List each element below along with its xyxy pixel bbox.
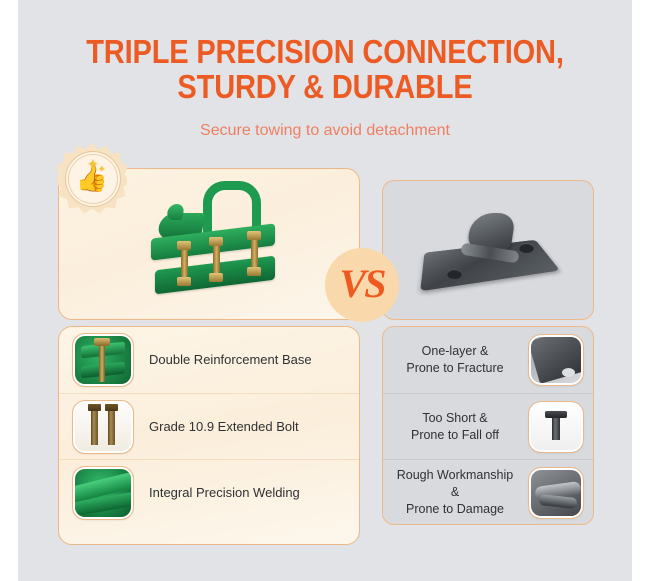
- hero-panel-bad: [382, 180, 594, 320]
- drawback-label: One-layer & Prone to Fracture: [391, 343, 529, 377]
- title-line-1: TRIPLE PRECISION CONNECTION,: [39, 36, 611, 67]
- feature-label: Double Reinforcement Base: [133, 351, 349, 369]
- feature-list-good: Double Reinforcement Base Grade 10.9 Ext…: [58, 326, 360, 545]
- drawback-line-1: Too Short &: [391, 410, 519, 427]
- feature-list-bad: One-layer & Prone to Fracture Too Short …: [382, 326, 594, 525]
- green-welding-thumb: [73, 467, 133, 519]
- drawback-label: Rough Workmanship & Prone to Damage: [391, 467, 529, 518]
- infographic-root: TRIPLE PRECISION CONNECTION, STURDY & DU…: [0, 0, 650, 581]
- sparkle-icon: ✦: [87, 157, 99, 171]
- green-tow-hook-image: [151, 181, 281, 309]
- list-item: Rough Workmanship & Prone to Damage: [383, 459, 593, 525]
- page-title: TRIPLE PRECISION CONNECTION, STURDY & DU…: [0, 36, 650, 102]
- grey-tow-hook-image: [425, 207, 557, 299]
- feature-label: Integral Precision Welding: [133, 484, 349, 502]
- drawback-line-2: Prone to Fracture: [391, 360, 519, 377]
- drawback-line-2: Prone to Damage: [391, 501, 519, 518]
- list-item: Double Reinforcement Base: [59, 327, 359, 393]
- rough-weld-thumb: [529, 468, 583, 518]
- versus-label: VS: [340, 264, 385, 304]
- green-double-base-thumb: [73, 334, 133, 386]
- drawback-label: Too Short & Prone to Fall off: [391, 410, 529, 444]
- thumbs-up-badge: 👍 ✦ ✦: [57, 143, 127, 213]
- drawback-line-1: One-layer &: [391, 343, 519, 360]
- list-item: Too Short & Prone to Fall off: [383, 393, 593, 459]
- grey-flat-plate-thumb: [529, 335, 583, 385]
- list-item: One-layer & Prone to Fracture: [383, 327, 593, 393]
- sparkle-icon-small: ✦: [98, 165, 106, 174]
- versus-badge: VS: [325, 248, 399, 322]
- feature-label: Grade 10.9 Extended Bolt: [133, 418, 349, 436]
- drawback-line-2: Prone to Fall off: [391, 427, 519, 444]
- short-bolt-thumb: [529, 402, 583, 452]
- long-bolts-thumb: [73, 401, 133, 453]
- drawback-line-1: Rough Workmanship &: [391, 467, 519, 501]
- list-item: Integral Precision Welding: [59, 459, 359, 525]
- list-item: Grade 10.9 Extended Bolt: [59, 393, 359, 459]
- subtitle: Secure towing to avoid detachment: [0, 122, 650, 140]
- title-line-2: STURDY & DURABLE: [39, 71, 611, 102]
- thumbs-up-icon: 👍: [57, 143, 127, 213]
